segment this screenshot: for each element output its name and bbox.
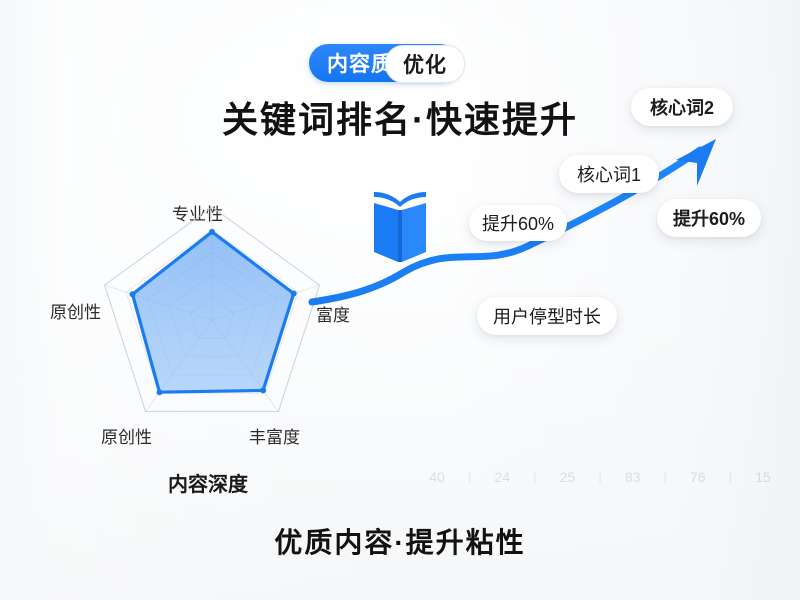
pill-uplift-right[interactable]: 提升60% <box>657 199 761 237</box>
page-subtitle: 优质内容·提升粘性 <box>0 521 800 561</box>
open-book-icon <box>369 186 431 264</box>
pill-core-keyword-1[interactable]: 核心词1 <box>559 155 659 193</box>
pill-uplift-left[interactable]: 提升60% <box>469 205 567 241</box>
content-depth-label: 内容深度 <box>168 468 248 497</box>
badge-secondary: 优化 <box>385 45 465 83</box>
pill-core-keyword-2[interactable]: 核心词2 <box>631 88 733 126</box>
poster-canvas: 专业性 富度 丰富度 原创性 原创性 内容深度 内容质量 优化 关键词排名·快速… <box>0 0 800 600</box>
pill-dwell-time[interactable]: 用户停型时长 <box>477 297 617 335</box>
badge[interactable]: 内容质量 优化 <box>309 44 459 82</box>
